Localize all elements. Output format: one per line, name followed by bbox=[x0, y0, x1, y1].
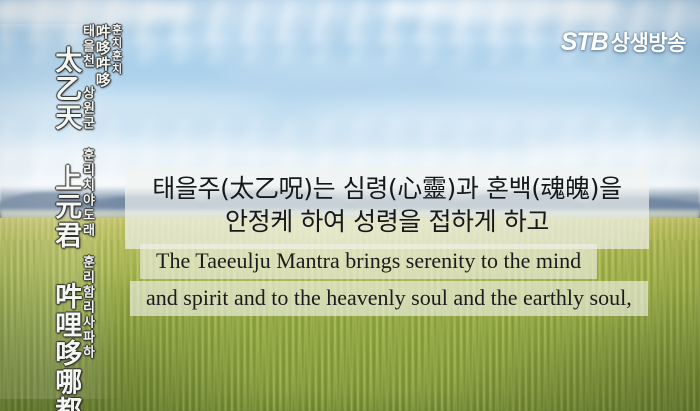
mantra-lead-hanja: 吽哆吽哆 bbox=[94, 24, 109, 88]
cloud-wisp bbox=[440, 66, 680, 84]
subtitle-korean: 태을주(太乙呪)는 심령(心靈)과 혼백(魂魄)을 안정케 하여 성령을 접하게… bbox=[125, 166, 649, 249]
subtitle-korean-line-1: 태을주(太乙呪)는 심령(心靈)과 혼백(魂魄)을 bbox=[125, 172, 649, 205]
stb-logo-mark: STB bbox=[561, 28, 608, 57]
cloud-wisp bbox=[210, 58, 470, 74]
mantra-body-hangul: 태을천 상원군 훈리치야도래 훈리함리사파하 bbox=[80, 24, 93, 360]
mantra-lead-hangul: 훈치훈치 bbox=[111, 24, 122, 76]
subtitle-korean-line-2: 안정케 하여 성령을 접하게 하고 bbox=[125, 205, 649, 238]
mantra-body-hanja: 太乙天 上元君 吽哩哆哪都來 吽哩喊哩娑婆訶 bbox=[52, 24, 80, 411]
taeeulju-mantra-panel: 훈치훈치 吽哆吽哆 태을천 상원군 훈리치야도래 훈리함리사파하 太乙天 上元君… bbox=[0, 24, 122, 399]
subtitle-english-line-1: The Taeeulju Mantra brings serenity to t… bbox=[140, 244, 597, 279]
stb-channel-logo: STB 상생방송 bbox=[561, 27, 686, 57]
subtitle-english-line-2: and spirit and to the heavenly soul and … bbox=[130, 281, 648, 316]
stb-logo-network-name: 상생방송 bbox=[611, 27, 686, 57]
cloud-wisp bbox=[300, 104, 640, 126]
video-frame: STB 상생방송 훈치훈치 吽哆吽哆 태을천 상원군 훈리치야도래 훈리함리사파… bbox=[0, 0, 700, 411]
